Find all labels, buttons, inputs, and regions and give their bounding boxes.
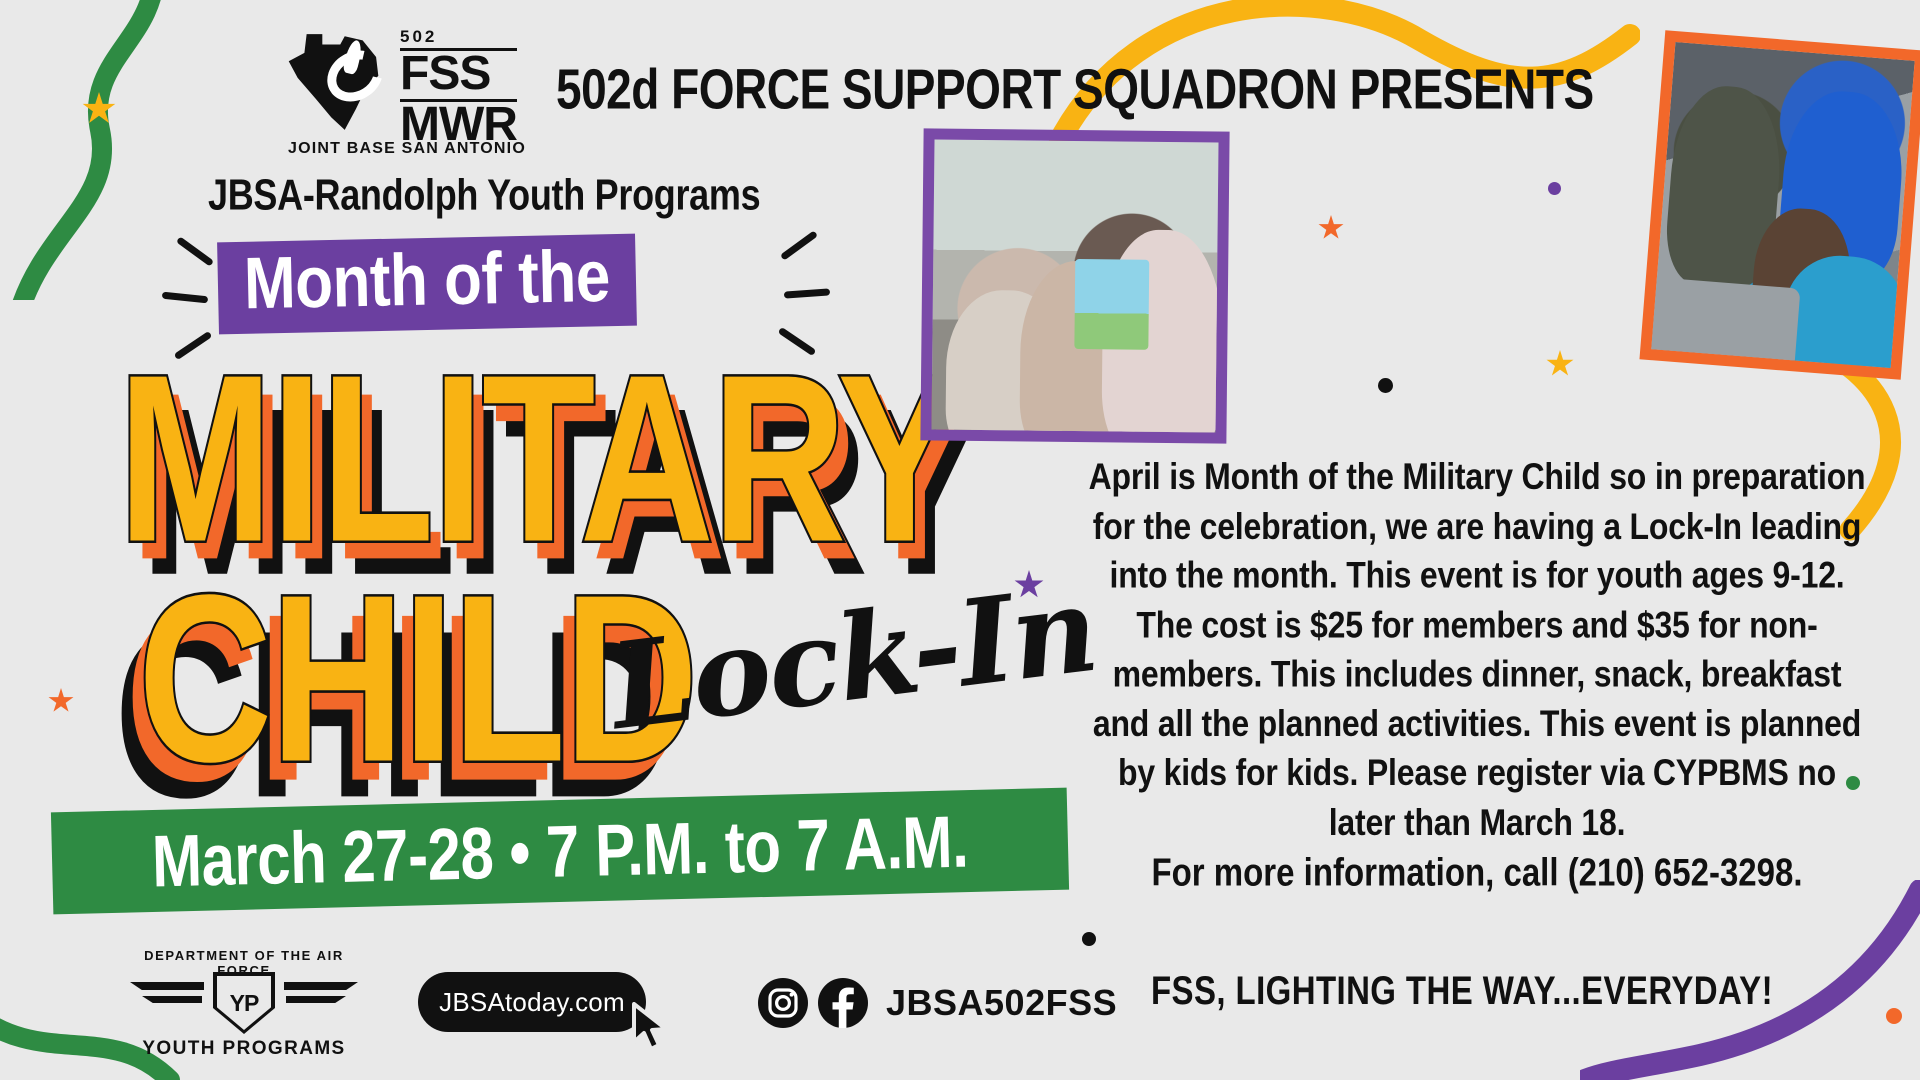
website-label: JBSAtoday.com bbox=[439, 987, 625, 1018]
logo-number: 502 bbox=[400, 28, 517, 45]
wing-left-icon bbox=[130, 982, 204, 990]
yp-monogram: YP bbox=[230, 992, 259, 1015]
presents-headline: 502d FORCE SUPPORT SQUADRON PRESENTS bbox=[556, 56, 1594, 122]
star-orange-left bbox=[48, 688, 74, 714]
logo-base-name: JOINT BASE SAN ANTONIO bbox=[282, 140, 532, 158]
dot-black-top bbox=[1378, 378, 1393, 393]
kids-gaming-photo bbox=[1639, 30, 1920, 380]
star-orange-top bbox=[1318, 215, 1344, 241]
yp-emblem: YP bbox=[128, 972, 360, 1034]
military-face: MILITARY bbox=[118, 360, 960, 560]
youth-programs-text: YOUTH PROGRAMS bbox=[128, 1038, 360, 1060]
tick-mark bbox=[780, 230, 818, 260]
dot-black-bottom bbox=[1082, 932, 1096, 946]
month-of-the-text: Month of the bbox=[243, 241, 610, 322]
tick-mark bbox=[162, 292, 208, 304]
poster-canvas: 502 FSS MWR JOINT BASE SAN ANTONIO 502d … bbox=[0, 0, 1920, 1080]
fss-mwr-logo: 502 FSS MWR JOINT BASE SAN ANTONIO bbox=[282, 22, 512, 152]
tick-mark bbox=[784, 288, 830, 298]
program-subtitle: JBSA-Randolph Youth Programs bbox=[208, 170, 760, 220]
kids-painting-photo bbox=[920, 128, 1229, 443]
instagram-icon[interactable] bbox=[758, 978, 808, 1028]
star-yellow-right bbox=[1546, 350, 1574, 378]
facebook-icon[interactable] bbox=[818, 978, 868, 1028]
social-media-group: JBSA502FSS bbox=[758, 978, 1117, 1028]
photo-seat bbox=[1644, 277, 1801, 378]
month-banner-box: Month of the bbox=[217, 234, 637, 335]
star-yellow-left bbox=[82, 92, 116, 126]
dot-orange-bottom-right bbox=[1886, 1008, 1902, 1024]
event-description: April is Month of the Military Child so … bbox=[1082, 452, 1872, 847]
shield-inner: YP bbox=[217, 976, 271, 1030]
date-time-text: March 27-28 • 7 P.M. to 7 A.M. bbox=[151, 799, 969, 903]
logo-fss-text: FSS bbox=[400, 52, 517, 96]
month-of-the-banner: Month of the bbox=[218, 238, 636, 330]
fss-wordmark: 502 FSS MWR bbox=[400, 28, 517, 147]
wing-left-icon bbox=[142, 996, 202, 1003]
photo-canvas bbox=[1074, 259, 1149, 350]
social-handle-text: JBSA502FSS bbox=[886, 982, 1117, 1024]
wing-right-icon bbox=[284, 982, 358, 990]
wing-right-icon bbox=[286, 996, 346, 1003]
tick-mark bbox=[176, 236, 214, 266]
youth-programs-logo: DEPARTMENT OF THE AIR FORCE YP YOUTH PRO… bbox=[128, 948, 360, 1060]
dot-purple-top bbox=[1548, 182, 1561, 195]
website-button[interactable]: JBSAtoday.com bbox=[418, 972, 646, 1032]
fss-tagline: FSS, LIGHTING THE WAY...EVERYDAY! bbox=[1082, 968, 1842, 1014]
green-squiggle-left bbox=[0, 0, 250, 300]
contact-phone-line: For more information, call (210) 652-329… bbox=[1082, 850, 1872, 895]
